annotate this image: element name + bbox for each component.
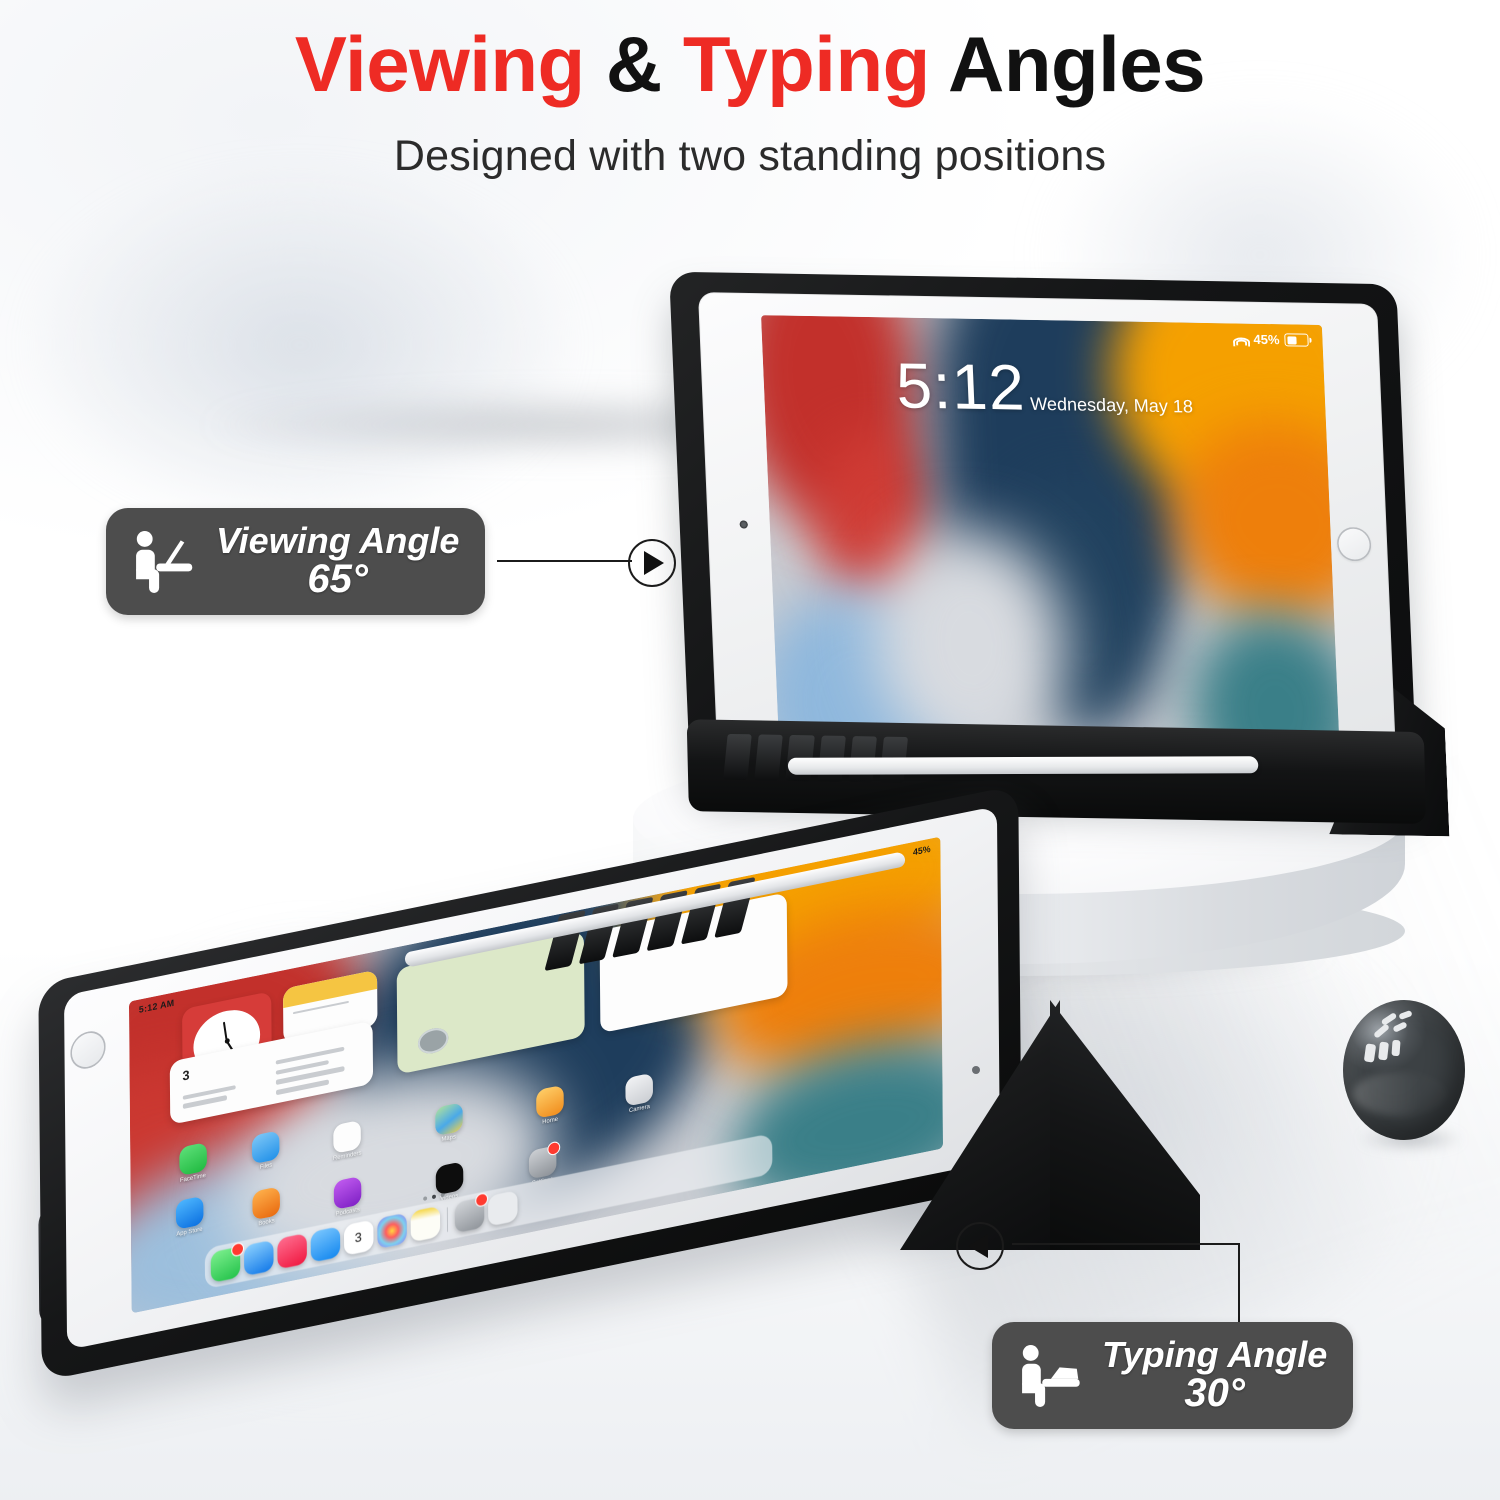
callout-typing-line1: Typing Angle [1102,1336,1327,1373]
lock-clock: 5:12 Wednesday, May 18 [762,351,1326,425]
callout-viewing-text: Viewing Angle 65° [216,522,459,601]
ipad-viewing-position: 45% 5:12 Wednesday, May 18 [686,282,1433,814]
dock-settings[interactable] [454,1197,484,1234]
callout-viewing-angle: Viewing Angle 65° [106,508,485,615]
callout-typing-line2: 30° [1102,1373,1327,1415]
home-button-top [1336,527,1371,562]
decorative-sphere [1343,1000,1473,1145]
battery-icon [1284,333,1309,346]
dock-mail[interactable] [310,1226,340,1263]
callout-viewing-line2: 65° [216,559,459,601]
stand-triangle-bot [900,1000,1190,1250]
ipad-bezel-top: 45% 5:12 Wednesday, May 18 [698,292,1397,787]
callout-viewing-line1: Viewing Angle [216,522,459,559]
scene-root: Viewing & Typing Angles Designed with tw… [0,0,1500,1500]
dock-photos[interactable] [377,1213,407,1250]
callout-typing-text: Typing Angle 30° [1102,1336,1327,1415]
lock-date-value: Wednesday, May 18 [1030,394,1194,417]
sphere-body [1343,1000,1465,1140]
title-word-viewing: Viewing [295,20,585,108]
front-camera-icon [740,520,748,528]
page-title: Viewing & Typing Angles [0,22,1500,106]
ipad-lock-screen: 45% 5:12 Wednesday, May 18 [761,315,1340,764]
lock-status-bar: 45% [1235,331,1309,347]
app-facetime[interactable]: FaceTime [179,1142,207,1176]
apple-pencil-top [787,756,1258,775]
app-reminders[interactable]: Reminders [333,1120,361,1154]
ipad-typing-position: 5:12 AM 45% 3 [30,880,1090,1310]
stand-face-right [1050,1000,1200,1250]
person-sitting-typing-icon [1012,1339,1084,1413]
callout-typing-angle: Typing Angle 30° [992,1322,1353,1429]
battery-percent-label: 45% [1253,332,1280,347]
sphere-gloss [1353,1072,1447,1116]
title-word-angles: Angles [948,20,1205,108]
person-sitting-viewing-icon [126,525,198,599]
app-camera[interactable]: Camera [625,1073,653,1107]
reminders-count: 3 [182,1067,189,1084]
dock-messages[interactable] [210,1246,240,1283]
dock-app-library[interactable] [487,1190,517,1227]
home-status-left: 5:12 AM [139,998,175,1015]
header: Viewing & Typing Angles Designed with tw… [0,22,1500,181]
settings-badge [547,1141,560,1157]
page-subtitle: Designed with two standing positions [0,132,1500,181]
app-files[interactable]: Files [252,1130,280,1164]
app-books[interactable]: Books [253,1186,281,1220]
app-podcasts[interactable]: Podcasts [334,1176,362,1210]
app-settings[interactable]: Settings [529,1146,557,1180]
search-icon [418,1026,448,1056]
dock-safari[interactable] [243,1240,273,1277]
arrow-right-circle-icon [628,539,676,587]
title-ampersand: & [606,20,662,108]
stand-face-left [900,1000,1060,1250]
lock-time-value: 5:12 [895,349,1027,423]
dock-calendar[interactable]: 3 [343,1219,373,1256]
wifi-icon [1235,334,1248,344]
dock-music[interactable] [277,1233,307,1270]
title-word-typing: Typing [683,20,930,108]
arrow-left-circle-icon [956,1222,1004,1270]
app-maps[interactable]: Maps [435,1103,463,1137]
home-status-right: 45% [913,844,931,858]
dock-notes[interactable] [410,1206,440,1243]
app-tv[interactable]: Videos [435,1162,463,1196]
dock-divider [446,1207,447,1232]
app-home[interactable]: Home [536,1085,564,1119]
app-app-store[interactable]: App Store [175,1196,203,1230]
